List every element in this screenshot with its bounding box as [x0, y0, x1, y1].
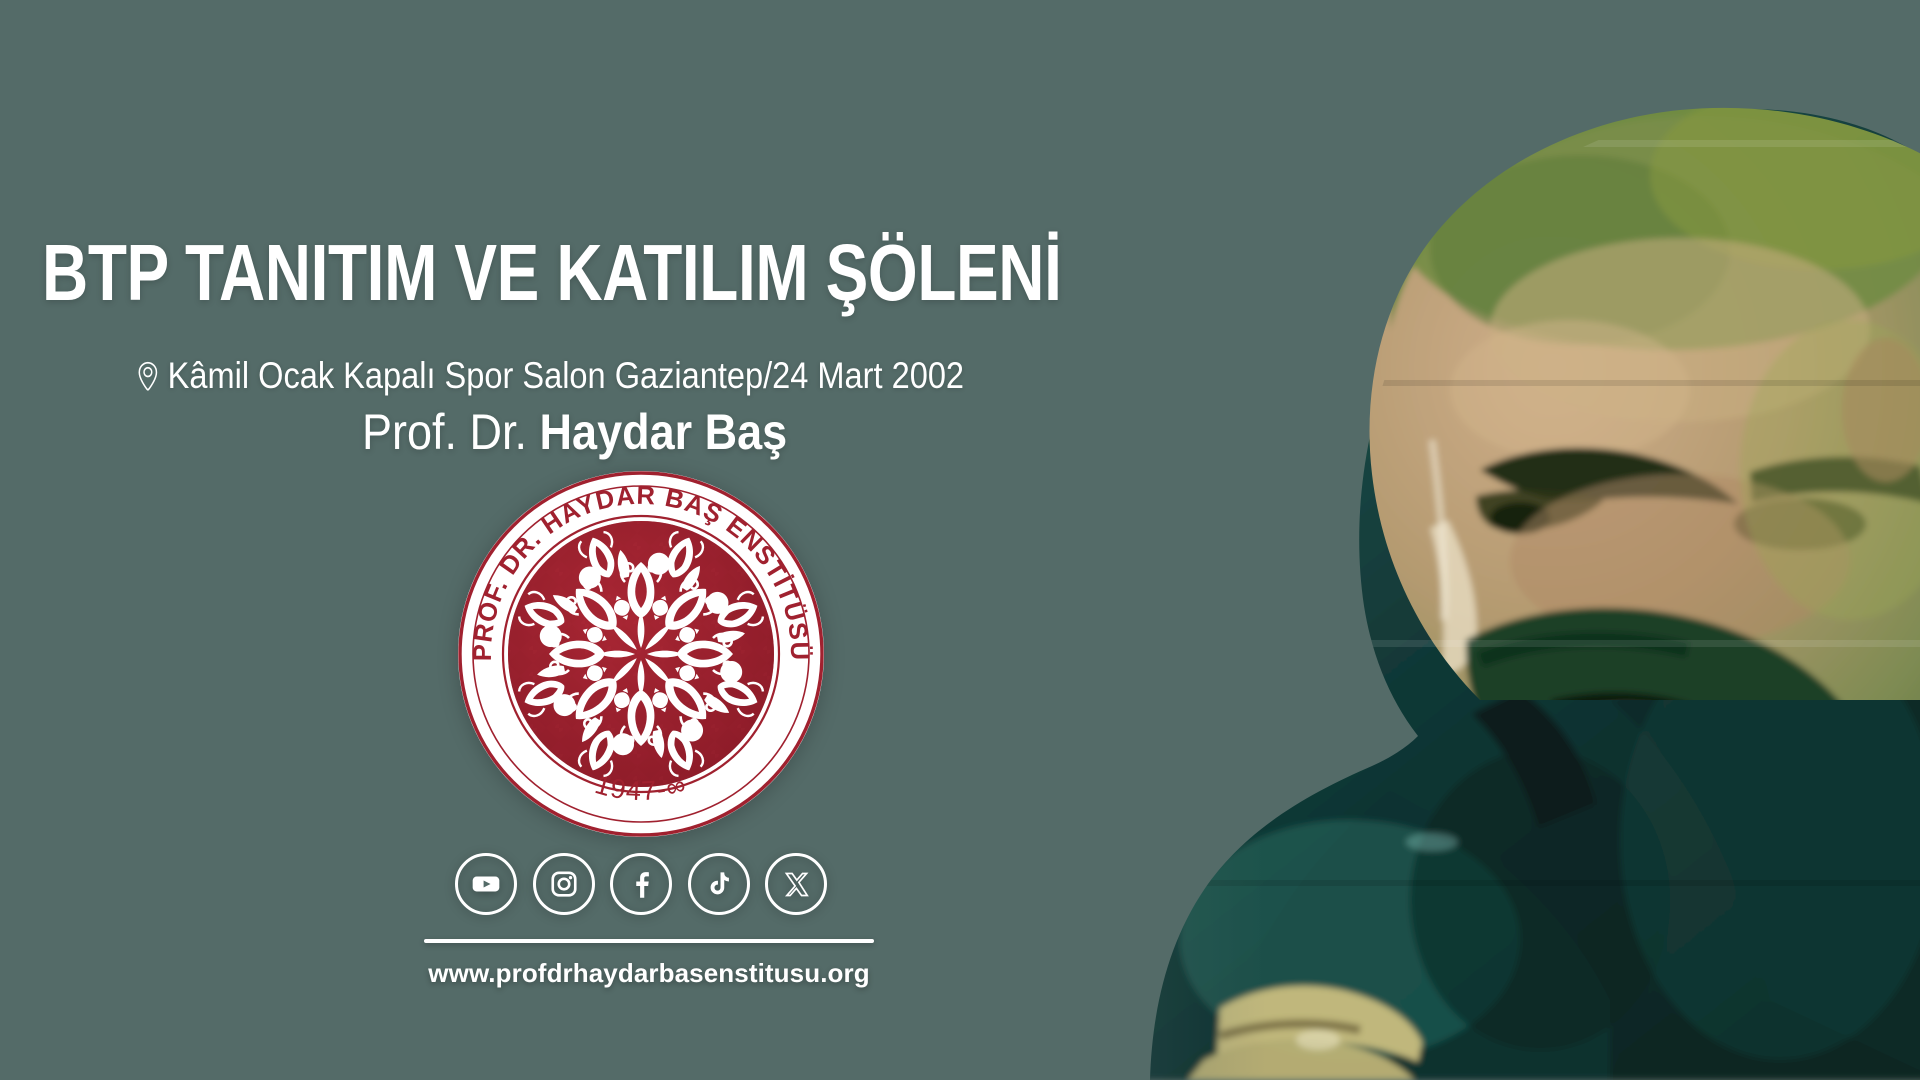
social-link-tiktok[interactable] — [688, 853, 750, 915]
social-link-youtube[interactable] — [455, 853, 517, 915]
facebook-icon — [626, 869, 656, 899]
tiktok-icon — [705, 870, 733, 898]
youtube-icon — [470, 868, 502, 900]
social-link-facebook[interactable] — [610, 853, 672, 915]
venue-line: Kâmil Ocak Kapalı Spor Salon Gaziantep/2… — [136, 357, 964, 394]
social-links — [455, 853, 827, 915]
speaker-line: Prof. Dr. Haydar Baş — [362, 404, 787, 462]
speaker-title: Prof. Dr. — [362, 404, 540, 460]
website-url[interactable]: www.profdrhaydarbasenstitusu.org — [424, 958, 874, 989]
poster-canvas: BTP TANITIM VE KATILIM ŞÖLENİ Kâmil Ocak… — [0, 0, 1920, 1080]
poster-content: BTP TANITIM VE KATILIM ŞÖLENİ Kâmil Ocak… — [0, 0, 1080, 1080]
location-pin-icon — [136, 361, 160, 391]
social-link-x[interactable] — [765, 853, 827, 915]
footer-divider — [424, 939, 874, 943]
instagram-icon — [549, 869, 579, 899]
venue-text: Kâmil Ocak Kapalı Spor Salon Gaziantep/2… — [168, 357, 964, 394]
institute-seal-logo: PROF. DR. HAYDAR BAŞ ENSTİTÜSÜ 1947-∞ — [455, 468, 827, 840]
page-title: BTP TANITIM VE KATILIM ŞÖLENİ — [42, 233, 1062, 313]
social-link-instagram[interactable] — [533, 853, 595, 915]
x-twitter-icon — [783, 871, 810, 898]
speaker-name: Haydar Baş — [540, 404, 788, 460]
